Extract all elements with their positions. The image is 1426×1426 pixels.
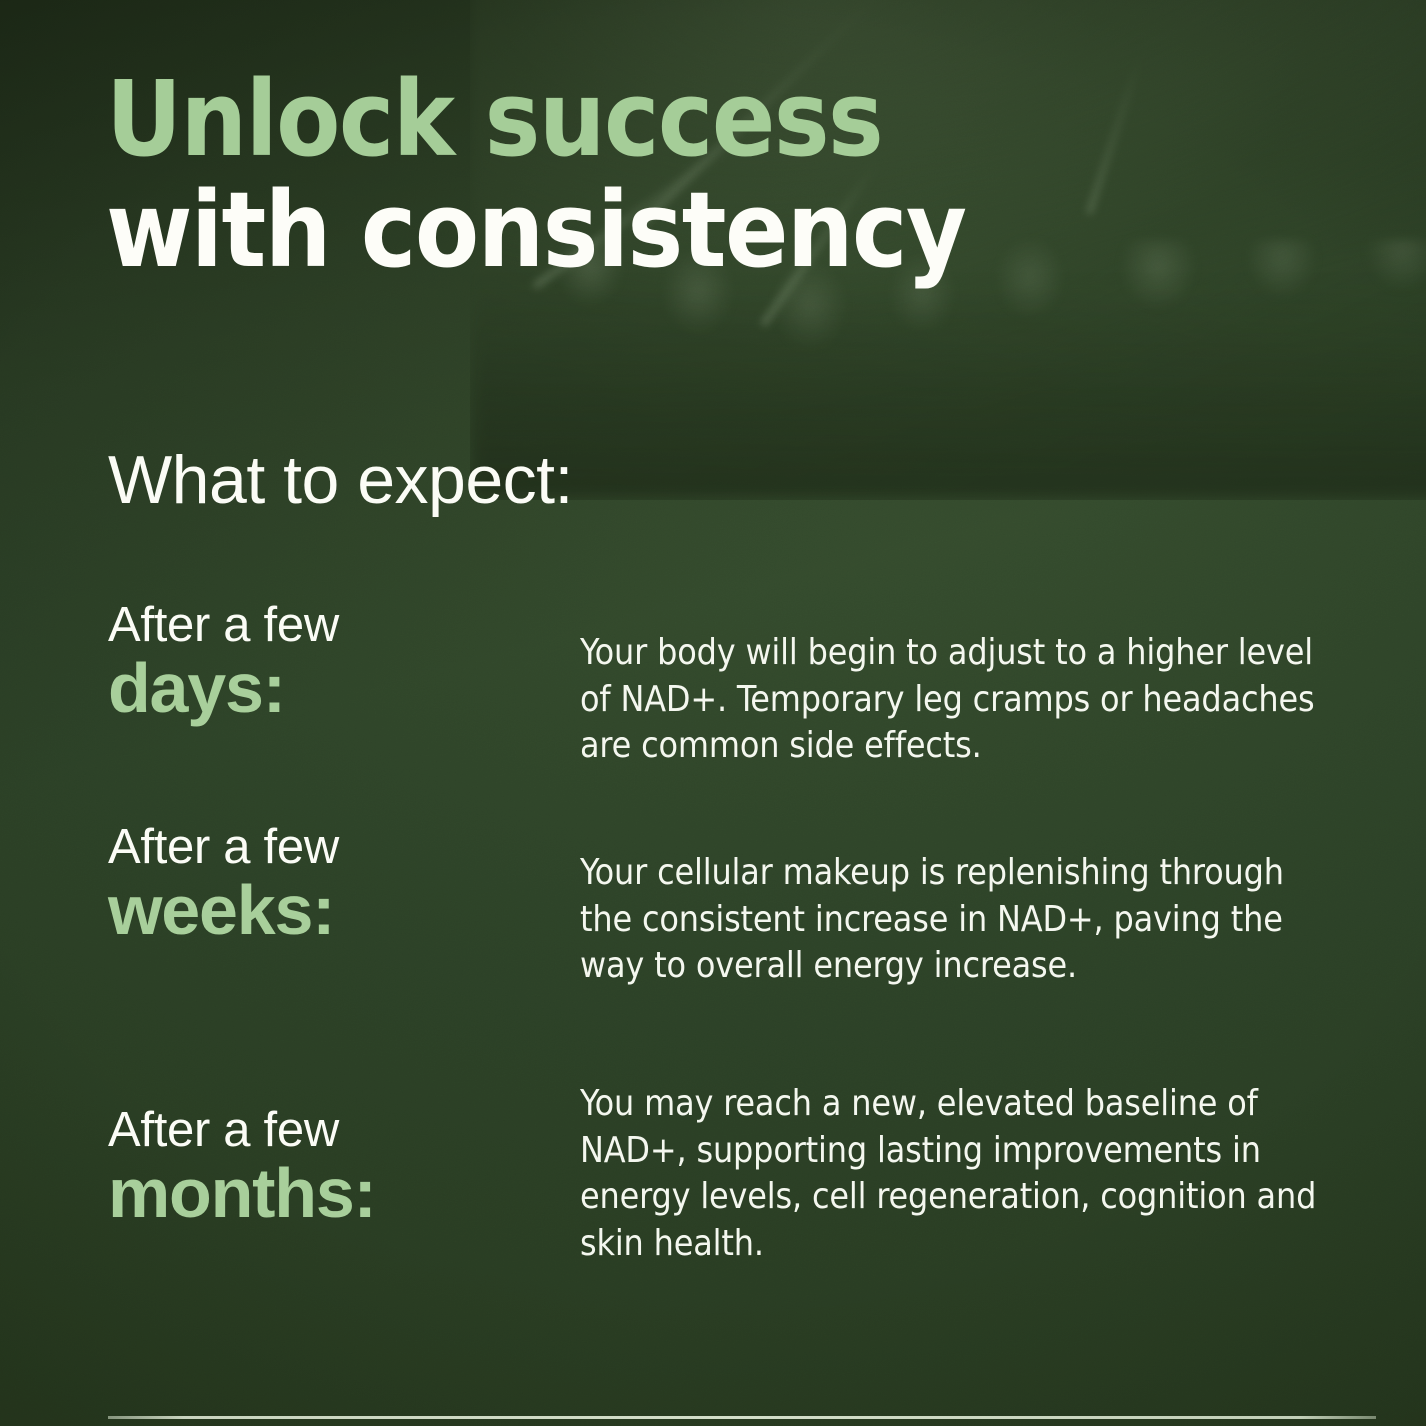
poster-canvas: Unlock success with consistency What to … — [0, 0, 1426, 1426]
timeframe-description-text: Your body will begin to adjust to a high… — [580, 630, 1318, 770]
timeframe-label-days: After a few days: — [108, 598, 580, 724]
timeframe-unit: months: — [108, 1158, 580, 1229]
timeframe-label-months: After a few months: — [108, 1077, 580, 1229]
timeframe-description-text: You may reach a new, elevated baseline o… — [580, 1081, 1318, 1267]
timeframe-unit: weeks: — [108, 875, 580, 946]
timeframe-lead: After a few — [108, 1105, 580, 1156]
timeframe-description: You may reach a new, elevated baseline o… — [580, 1077, 1318, 1267]
headline-line-1: Unlock success — [106, 64, 1286, 175]
divider — [108, 1416, 1376, 1419]
timeframe-unit: days: — [108, 653, 580, 724]
expectations-list: After a few days: Your body will begin t… — [0, 598, 1426, 1327]
timeframe-description-text: Your cellular makeup is replenishing thr… — [580, 850, 1318, 990]
list-item: After a few weeks: Your cellular makeup … — [0, 820, 1426, 1077]
headline-line-2: with consistency — [106, 175, 1286, 286]
timeframe-lead: After a few — [108, 600, 580, 651]
timeframe-label-weeks: After a few weeks: — [108, 820, 580, 946]
list-item: After a few months: You may reach a new,… — [0, 1077, 1426, 1327]
timeframe-description: Your body will begin to adjust to a high… — [580, 598, 1318, 770]
section-heading-what-to-expect: What to expect: — [108, 446, 573, 514]
timeframe-lead: After a few — [108, 822, 580, 873]
timeframe-description: Your cellular makeup is replenishing thr… — [580, 820, 1318, 990]
page-title: Unlock success with consistency — [106, 64, 1286, 287]
poster-content: Unlock success with consistency What to … — [0, 0, 1426, 1426]
list-item: After a few days: Your body will begin t… — [0, 598, 1426, 820]
